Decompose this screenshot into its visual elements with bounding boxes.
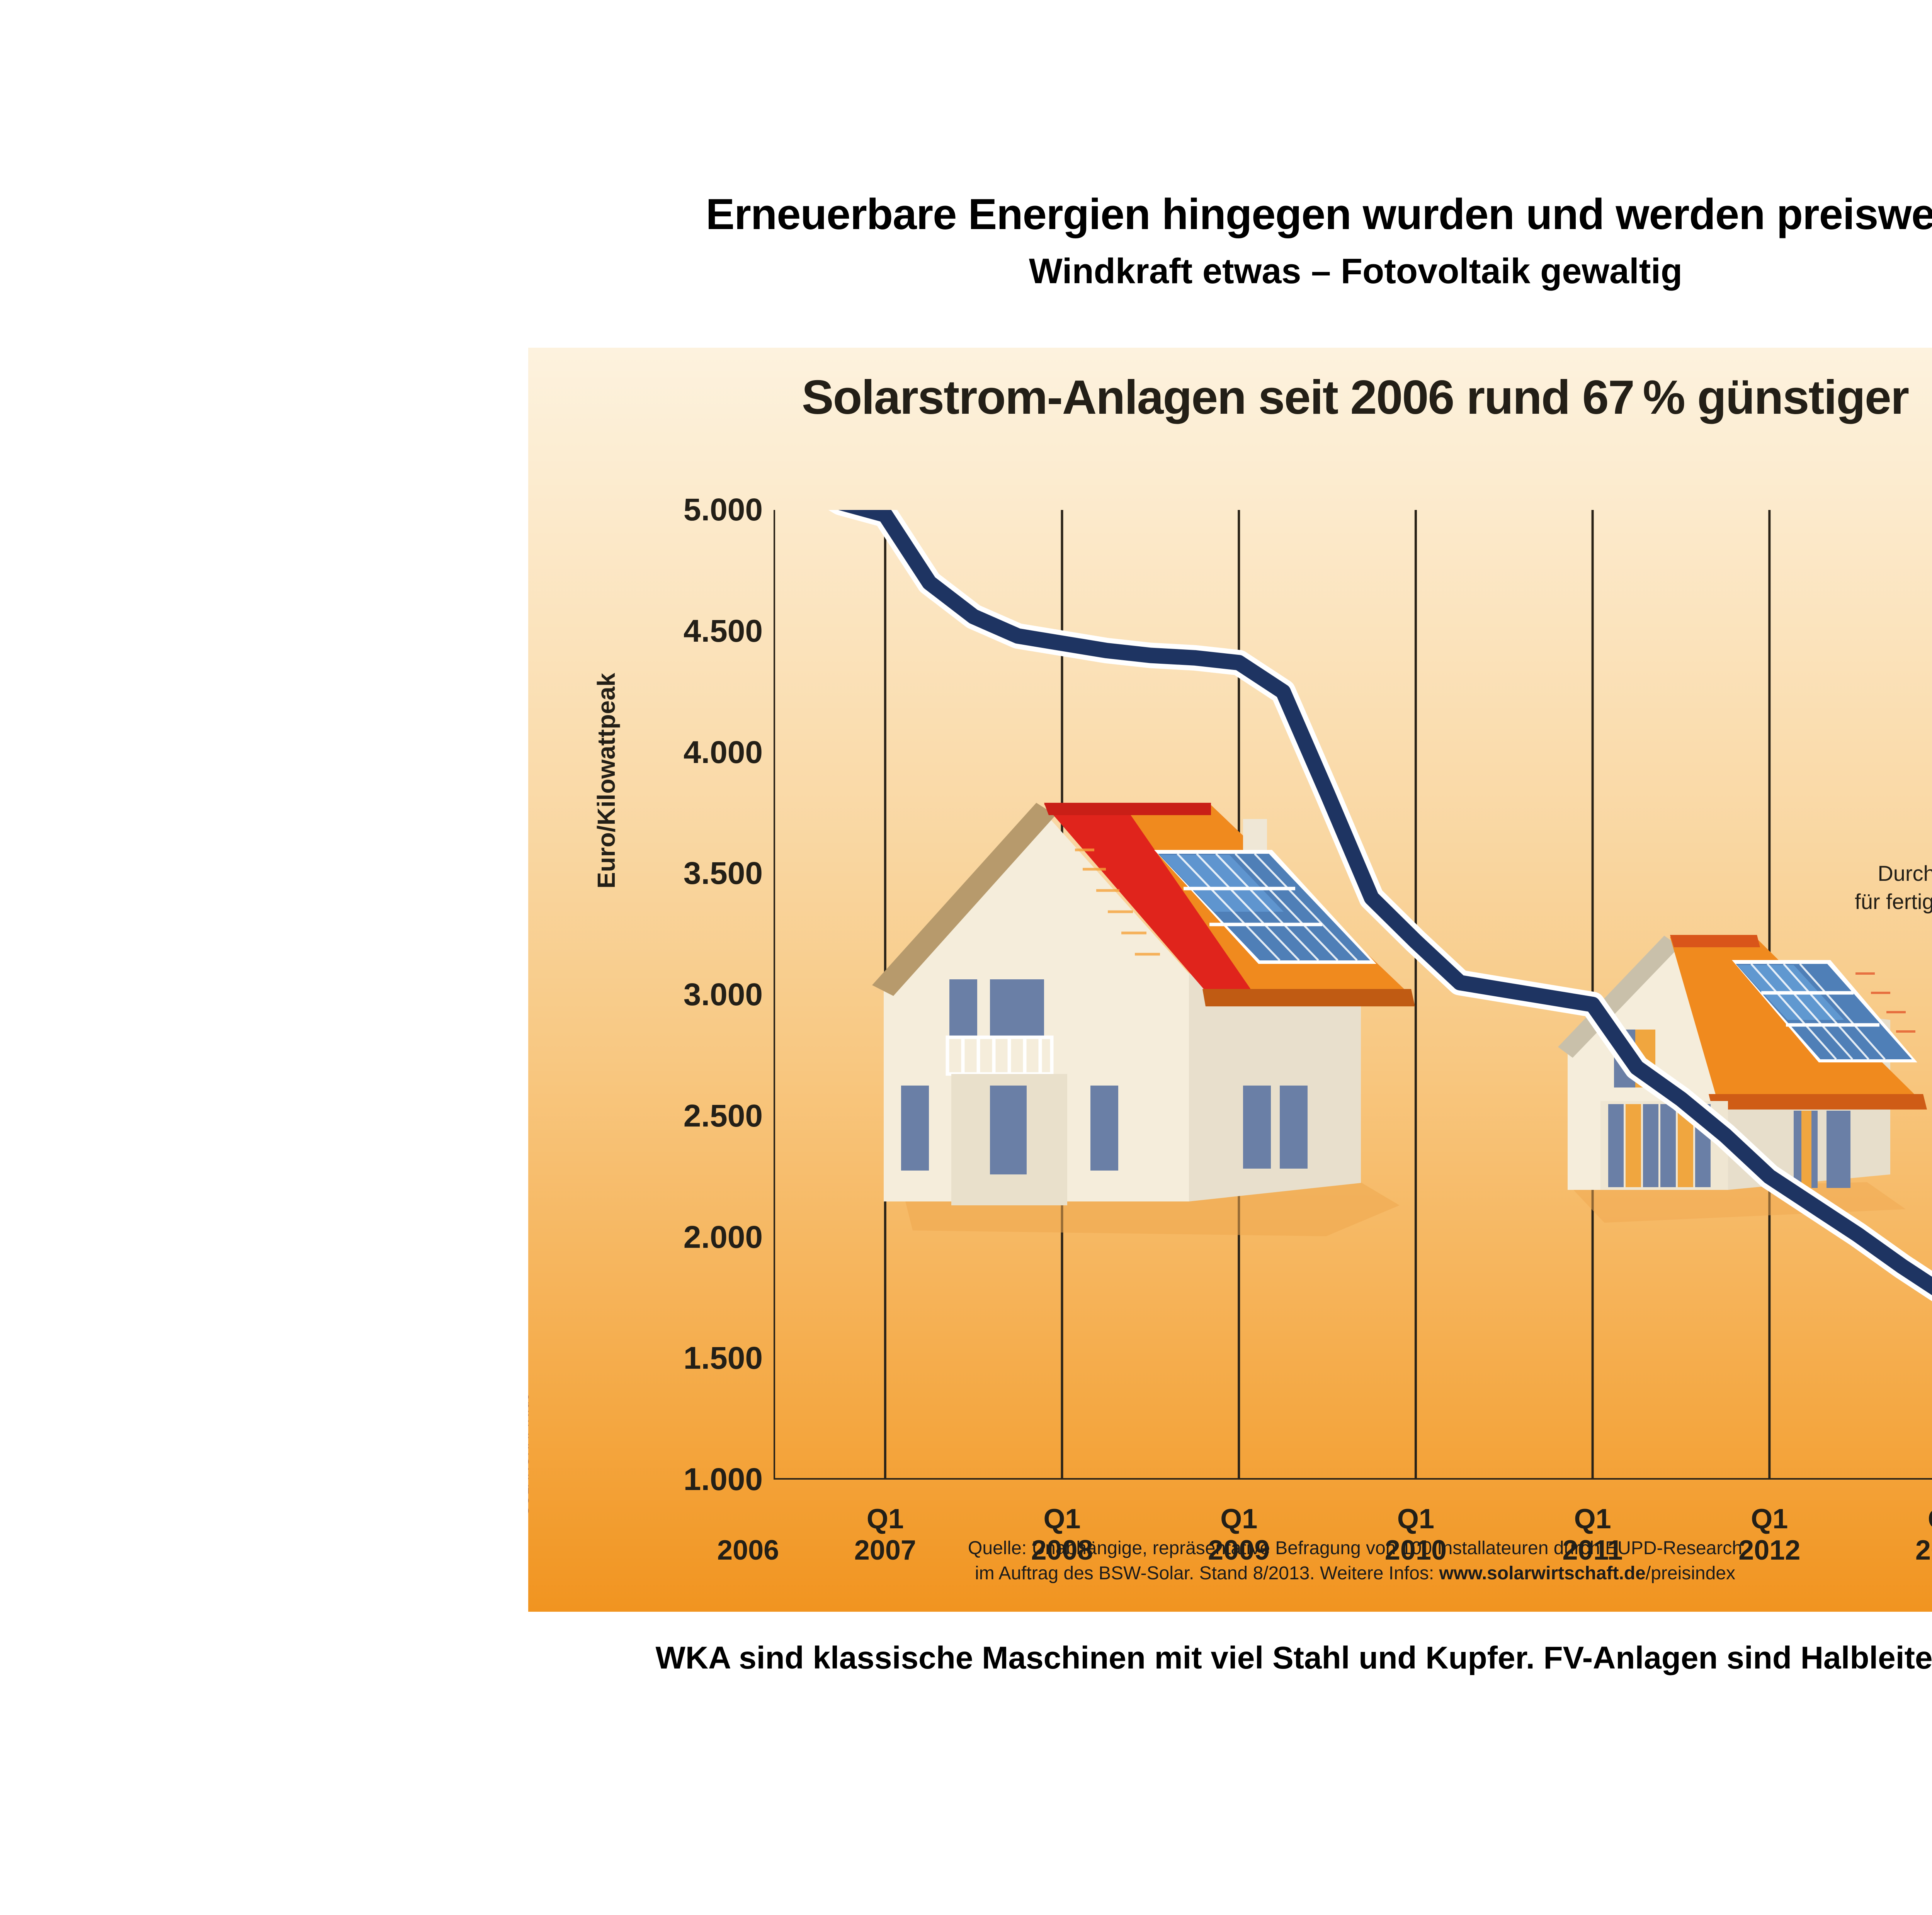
chart-panel: Solarstrom-Anlagen seit 2006 rund 67 % g… <box>528 348 1932 1612</box>
y-axis-tick-label: 4.000 <box>684 734 763 771</box>
x-axis-quarter-label: Q1 <box>1711 1504 1827 1535</box>
house-illustration-large <box>872 803 1415 1236</box>
house-illustration-small <box>1558 935 1927 1223</box>
chart-title: Solarstrom-Anlagen seit 2006 rund 67 % g… <box>528 370 1932 425</box>
y-axis-tick-label: 3.500 <box>684 855 763 892</box>
y-axis-tick-label: 2.000 <box>684 1219 763 1256</box>
x-axis-quarter-label: Q1 <box>1004 1504 1120 1535</box>
y-axis-tick-label: 3.000 <box>684 977 763 1013</box>
x-axis-quarter-label: Q1 <box>1888 1504 1932 1535</box>
x-axis-quarter-label: Q1 <box>1181 1504 1297 1535</box>
watermark-solargrafik: SOLARGRAFIK.de <box>528 1393 532 1515</box>
slide-title: Erneuerbare Energien hingegen wurden und… <box>0 189 1932 239</box>
source-url-path: /preisindex <box>1646 1563 1735 1584</box>
annotation-line-3: bis 10 kWp (ohne USt) <box>1728 916 1932 944</box>
x-axis-quarter-label <box>690 1504 806 1535</box>
plot-area: Euro/Kilowattpeak 5.0004.5004.0003.5003.… <box>774 510 1932 1480</box>
annotation-line-2: für fertig installierte PV-Aufdachanlage… <box>1728 888 1932 916</box>
slide-caption: WKA sind klassische Maschinen mit viel S… <box>0 1640 1932 1676</box>
source-line-2: im Auftrag des BSW-Solar. Stand 8/2013. … <box>528 1561 1932 1586</box>
y-axis-label: Euro/Kilowattpeak <box>592 673 621 889</box>
y-axis-tick-label: 5.000 <box>684 492 763 528</box>
source-url: www.solarwirtschaft.de <box>1439 1563 1646 1584</box>
chart-svg <box>774 510 1932 1480</box>
chart-annotation: Durchschnittlicher Endkundenpreis für fe… <box>1728 860 1932 944</box>
source-line-2-a: im Auftrag des BSW-Solar. Stand 8/2013. … <box>975 1563 1439 1584</box>
source-note: Quelle: Unabhängige, repräsentative Befr… <box>528 1536 1932 1586</box>
x-axis-quarter-label: Q1 <box>1535 1504 1651 1535</box>
slide-subtitle: Windkraft etwas – Fotovoltaik gewaltig <box>0 251 1932 292</box>
x-axis-quarter-label: Q1 <box>827 1504 943 1535</box>
y-axis-tick-label: 4.500 <box>684 613 763 649</box>
x-axis-quarter-label: Q1 <box>1358 1504 1474 1535</box>
y-axis-tick-label: 2.500 <box>684 1098 763 1134</box>
source-line-1: Quelle: Unabhängige, repräsentative Befr… <box>528 1536 1932 1561</box>
y-axis-tick-label: 1.000 <box>684 1461 763 1498</box>
annotation-line-1: Durchschnittlicher Endkundenpreis <box>1728 860 1932 888</box>
y-axis-tick-label: 1.500 <box>684 1340 763 1376</box>
